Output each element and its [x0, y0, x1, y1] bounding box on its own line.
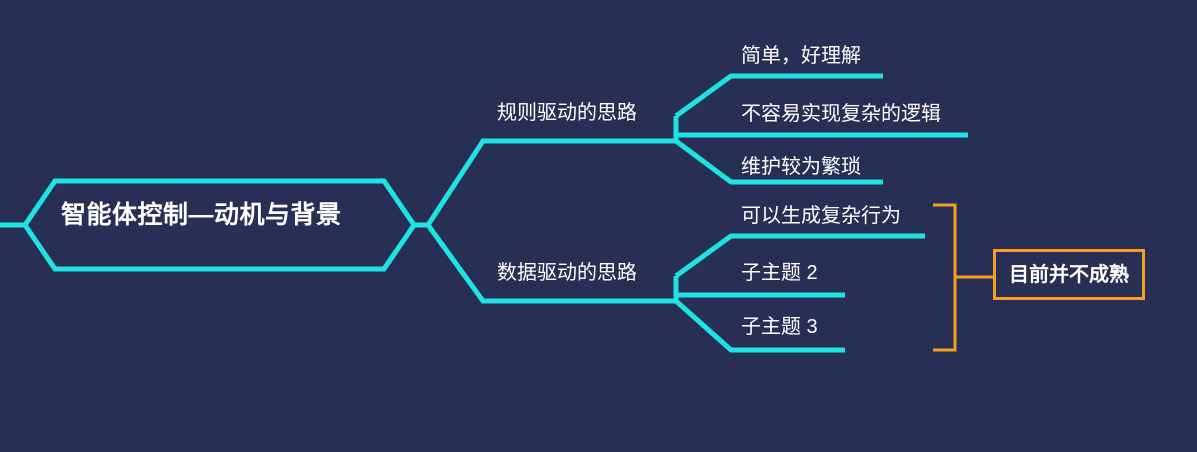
branch-connector-rule: [428, 141, 676, 225]
summary-node-label: 目前并不成熟: [1009, 265, 1129, 285]
leaf-label-subtopic-3[interactable]: 子主题 3: [741, 317, 818, 337]
leaf-label-subtopic-2[interactable]: 子主题 2: [741, 263, 818, 283]
leaf-label-maintenance-cumbersome[interactable]: 维护较为繁琐: [741, 157, 861, 177]
root-node-label[interactable]: 智能体控制—动机与背景: [61, 203, 342, 228]
leaf-label-hard-complex-logic[interactable]: 不容易实现复杂的逻辑: [741, 104, 941, 124]
summary-node[interactable]: 目前并不成熟: [993, 249, 1145, 300]
leaf-label-simple-understandable[interactable]: 简单，好理解: [741, 46, 861, 66]
branch-label-data-driven[interactable]: 数据驱动的思路: [497, 263, 637, 283]
summary-bracket: [933, 205, 955, 350]
leaf-label-complex-behavior[interactable]: 可以生成复杂行为: [741, 206, 901, 226]
branch-label-rule-driven[interactable]: 规则驱动的思路: [497, 103, 637, 123]
mindmap-canvas: 智能体控制—动机与背景 规则驱动的思路 数据驱动的思路 简单，好理解 不容易实现…: [0, 0, 1197, 452]
